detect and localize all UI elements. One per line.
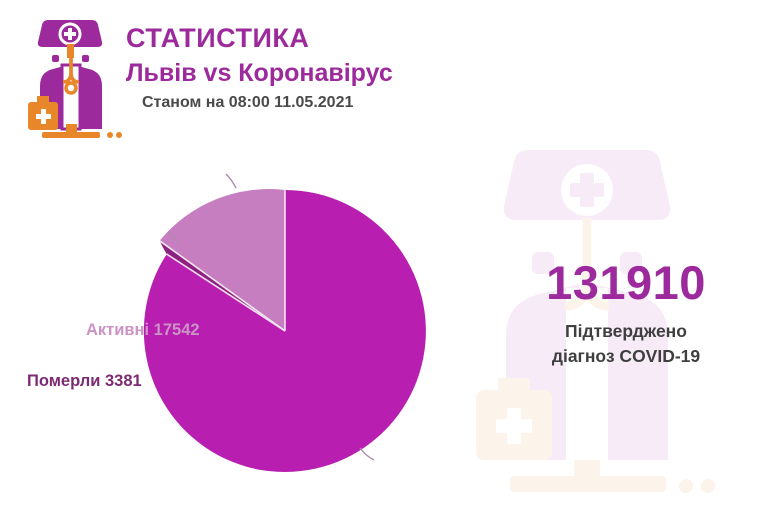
confirmed-cases-number: 131910 bbox=[497, 258, 755, 307]
doctor-with-medical-bag-icon bbox=[26, 16, 134, 140]
page-subtitle: Львів vs Коронавірус bbox=[126, 60, 466, 88]
caption-line-2: діагноз COVID-19 bbox=[552, 346, 700, 366]
pie-label-active: Активні 17542 bbox=[86, 321, 200, 340]
header-text-group: СТАТИСТИКА Львів vs Коронавірус Станом н… bbox=[126, 24, 466, 112]
confirmed-cases-block: 131910 Підтверджено діагноз COVID-19 bbox=[497, 258, 755, 369]
confirmed-cases-caption: Підтверджено діагноз COVID-19 bbox=[497, 319, 755, 369]
pie-chart: Активні 17542 Померли 3381 Одужали 11098… bbox=[0, 150, 480, 517]
pie-label-died: Померли 3381 bbox=[27, 372, 142, 391]
infographic-canvas: СТАТИСТИКА Львів vs Коронавірус Станом н… bbox=[0, 0, 767, 517]
header: СТАТИСТИКА Львів vs Коронавірус Станом н… bbox=[18, 8, 478, 146]
timestamp-line: Станом на 08:00 11.05.2021 bbox=[126, 94, 466, 112]
caption-line-1: Підтверджено bbox=[565, 321, 687, 341]
page-title: СТАТИСТИКА bbox=[126, 24, 466, 54]
